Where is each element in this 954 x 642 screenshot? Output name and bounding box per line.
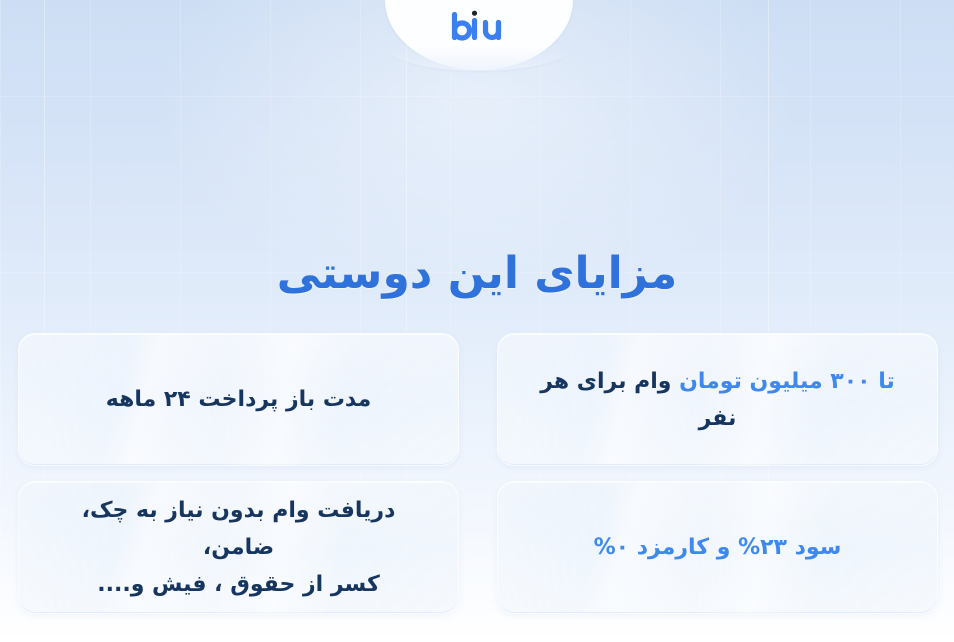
benefits-card-grid: تا ۳۰۰ میلیون تومان وام برای هر نفر مدت … bbox=[18, 333, 938, 614]
card-loan-amount-text: تا ۳۰۰ میلیون تومان وام برای هر نفر bbox=[524, 363, 911, 437]
card-profit-and-fee-text: سود ۲۳% و کارمزد ۰% bbox=[594, 529, 842, 566]
card-repayment-period-text: مدت باز پرداخت ۲۴ ماهه bbox=[106, 381, 372, 418]
blu-wordmark-icon bbox=[447, 9, 511, 43]
card-profit-and-fee[interactable]: سود ۲۳% و کارمزد ۰% bbox=[497, 481, 938, 614]
brand-logo bbox=[385, 4, 573, 48]
card-repayment-period[interactable]: مدت باز پرداخت ۲۴ ماهه bbox=[18, 333, 459, 466]
card-no-guarantor-required[interactable]: دریافت وام بدون نیاز به چک، ضامن، کسر از… bbox=[18, 481, 459, 614]
card-loan-amount-highlight: تا ۳۰۰ میلیون تومان bbox=[679, 369, 895, 394]
card-loan-amount[interactable]: تا ۳۰۰ میلیون تومان وام برای هر نفر bbox=[497, 333, 938, 466]
page-title: مزایای این دوستی bbox=[0, 243, 954, 305]
page-root: مزایای این دوستی تا ۳۰۰ میلیون تومان وام… bbox=[0, 0, 954, 642]
card-no-guarantor-required-text: دریافت وام بدون نیاز به چک، ضامن، کسر از… bbox=[45, 492, 432, 603]
